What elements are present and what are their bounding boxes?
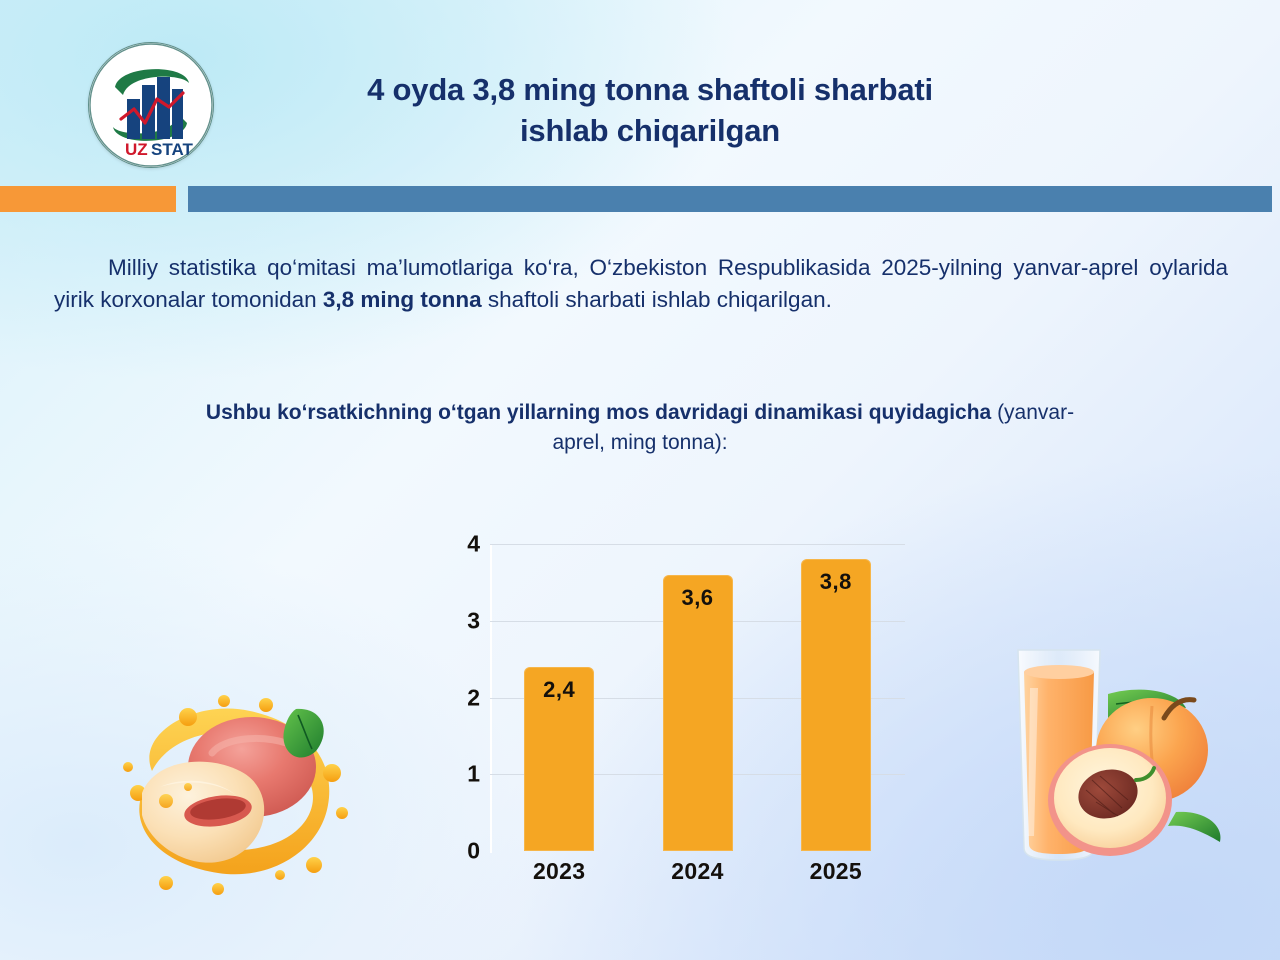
chart-bar: 2,4 <box>524 667 594 851</box>
lead-highlight: 3,8 ming tonna <box>323 287 482 312</box>
chart-y-tick-label: 3 <box>430 607 480 634</box>
page-title-line-2: ishlab chiqarilgan <box>520 113 780 148</box>
page-title: 4 oyda 3,8 ming tonna shaftoli sharbati … <box>240 70 1060 152</box>
chart-gridline <box>490 544 905 545</box>
chart-plot-area: 2,43,63,8 <box>490 544 905 851</box>
divider-accent-blue <box>188 186 1272 212</box>
lead-text-part-2: shaftoli sharbati ishlab chiqarilgan. <box>482 287 832 312</box>
bar-chart: 2,43,63,8 01234202320242025 <box>430 528 930 888</box>
chart-bar-value-label: 2,4 <box>524 677 594 703</box>
chart-caption: Ushbu ko‘rsatkichning o‘tgan yillarning … <box>190 398 1090 459</box>
uzstat-logo-graphic: UZ STAT <box>89 43 213 167</box>
chart-y-tick-label: 1 <box>430 761 480 788</box>
infographic-poster: UZ STAT 4 oyda 3,8 ming tonna shaftoli s… <box>0 0 1280 960</box>
logo-text-uz: UZ <box>125 140 148 159</box>
chart-y-tick-label: 4 <box>430 531 480 558</box>
chart-x-tick-label: 2025 <box>767 858 905 885</box>
chart-bar-value-label: 3,6 <box>663 585 733 611</box>
divider-accent-orange <box>0 186 176 212</box>
uzstat-logo: UZ STAT <box>88 42 214 168</box>
chart-bar-value-label: 3,8 <box>801 569 871 595</box>
chart-bar: 3,8 <box>801 559 871 851</box>
chart-y-tick-label: 2 <box>430 684 480 711</box>
chart-y-tick-label: 0 <box>430 838 480 865</box>
chart-bar: 3,6 <box>663 575 733 851</box>
chart-caption-strong: Ushbu ko‘rsatkichning o‘tgan yillarning … <box>206 401 991 424</box>
logo-text-stat: STAT <box>151 140 193 159</box>
lead-paragraph: Milliy statistika qo‘mitasi ma’lumotlari… <box>54 252 1228 316</box>
page-title-line-1: 4 oyda 3,8 ming tonna shaftoli sharbati <box>367 72 933 107</box>
chart-x-tick-label: 2023 <box>490 858 628 885</box>
peach-with-juice-splash-image <box>100 675 390 900</box>
header: UZ STAT 4 oyda 3,8 ming tonna shaftoli s… <box>0 0 1280 180</box>
peach-juice-glass-image <box>1000 630 1235 885</box>
chart-x-tick-label: 2024 <box>628 858 766 885</box>
